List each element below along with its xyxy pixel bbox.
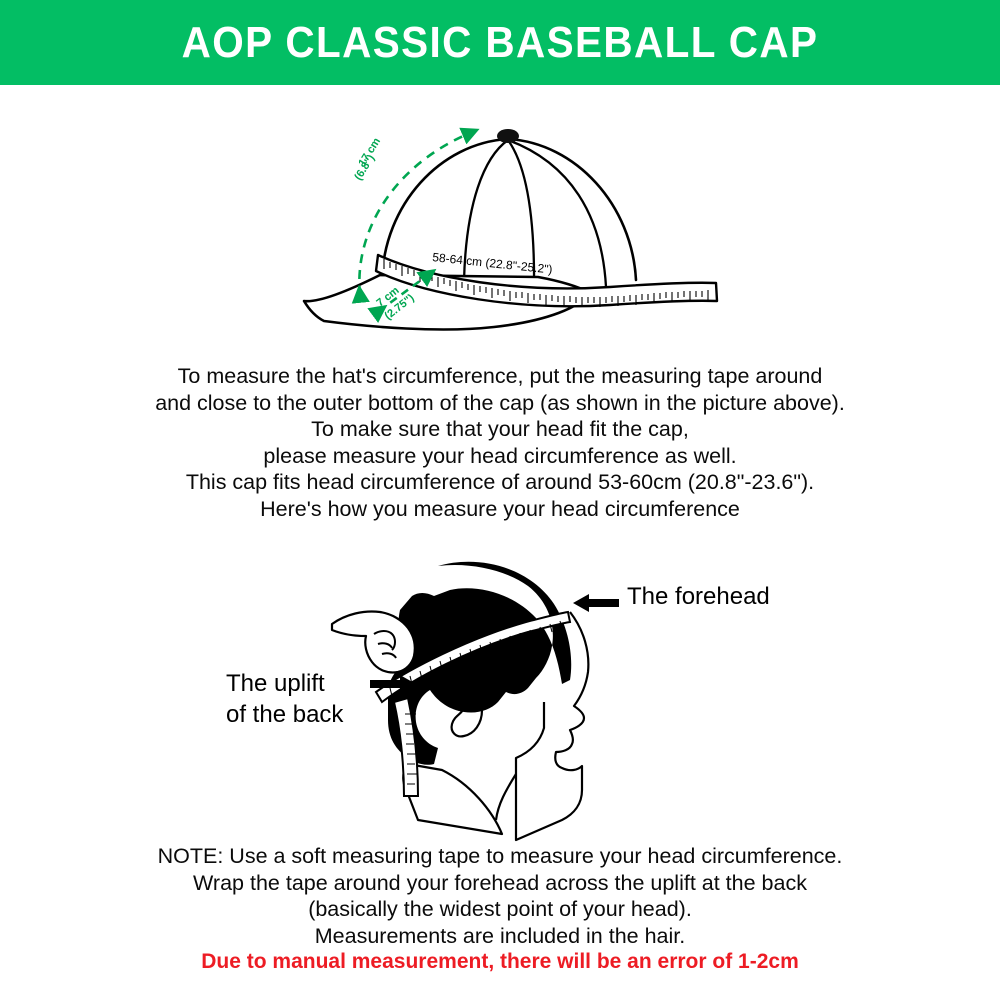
callout-forehead: The forehead xyxy=(627,583,770,611)
neck-line xyxy=(496,774,516,820)
note-line: (basically the widest point of your head… xyxy=(0,896,1000,923)
instruction-line: and close to the outer bottom of the cap… xyxy=(0,390,1000,417)
crown-height-inches: (6.8") xyxy=(352,152,377,182)
cap-button xyxy=(497,129,519,143)
header-bar: AOP CLASSIC BASEBALL CAP xyxy=(0,0,1000,85)
forehead-arrow-icon xyxy=(573,592,619,619)
note-line: Wrap the tape around your forehead acros… xyxy=(0,870,1000,897)
callout-uplift: The uplift of the back xyxy=(226,668,343,730)
size-chart-page: AOP CLASSIC BASEBALL CAP xyxy=(0,0,1000,1000)
instruction-line: To make sure that your head fit the cap, xyxy=(0,416,1000,443)
instruction-line: please measure your head circumference a… xyxy=(0,443,1000,470)
measurement-error-warning: Due to manual measurement, there will be… xyxy=(0,950,1000,974)
note-block: NOTE: Use a soft measuring tape to measu… xyxy=(0,843,1000,949)
instruction-line: This cap fits head circumference of arou… xyxy=(0,469,1000,496)
instruction-line: Here's how you measure your head circumf… xyxy=(0,496,1000,523)
cap-circumference-label: 58-64 cm (22.8"-25.2") xyxy=(432,250,553,277)
callout-uplift-line1: The uplift xyxy=(226,670,325,697)
hand xyxy=(332,612,415,673)
page-title: AOP CLASSIC BASEBALL CAP xyxy=(182,18,819,68)
instruction-line: To measure the hat's circumference, put … xyxy=(0,363,1000,390)
instructions-block: To measure the hat's circumference, put … xyxy=(0,363,1000,522)
uplift-arrow-icon xyxy=(370,673,416,700)
note-line: Measurements are included in the hair. xyxy=(0,923,1000,950)
note-line: NOTE: Use a soft measuring tape to measu… xyxy=(0,843,1000,870)
cap-diagram: 58-64 cm (22.8"-25.2") 17 cm (6.8") 7 cm… xyxy=(280,95,740,340)
callout-uplift-line2: of the back xyxy=(226,701,343,728)
